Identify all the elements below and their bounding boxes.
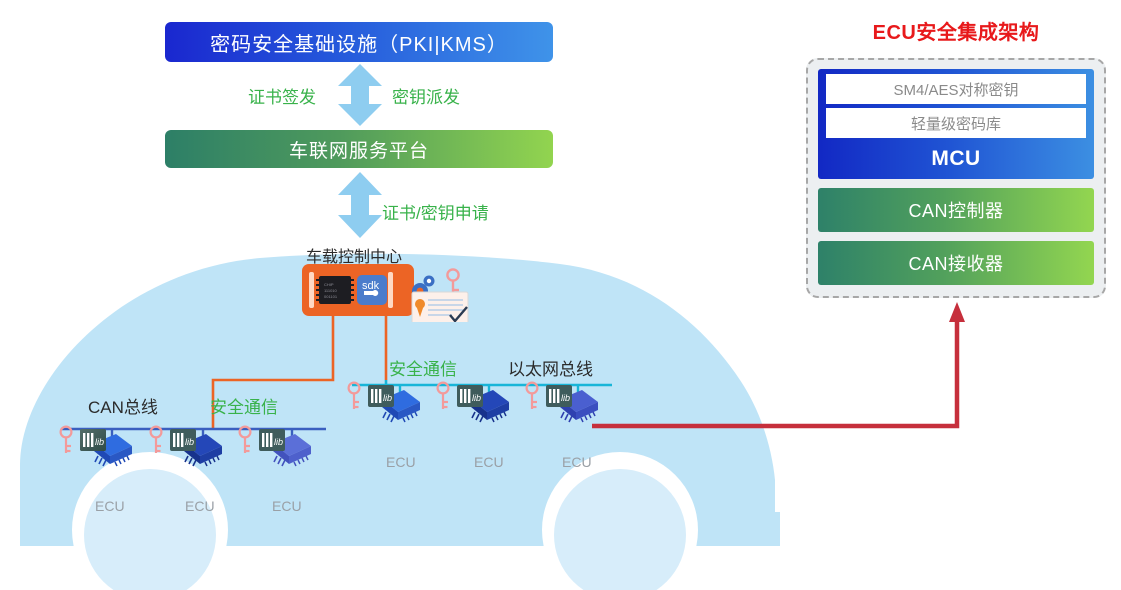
ecu-node-label: ECU — [185, 498, 215, 514]
ecu-node[interactable]: lib — [435, 380, 511, 432]
ecu-node[interactable]: lib — [237, 424, 313, 476]
pki-kms-box[interactable]: 密码安全基础设施（PKI|KMS） — [165, 22, 553, 62]
svg-text:111010: 111010 — [324, 288, 338, 293]
cert-key-request-label: 证书/密钥申请 — [382, 199, 489, 224]
ecu-node-label: ECU — [386, 454, 416, 470]
control-center-module[interactable]: CHIP111010 001101 sdk — [300, 262, 490, 322]
ecu-architecture-panel: SM4/AES对称密钥 轻量级密码库 MCU CAN控制器 CAN接收器 — [806, 58, 1106, 298]
ecu-node-label: ECU — [474, 454, 504, 470]
iov-platform-box[interactable]: 车联网服务平台 — [165, 130, 553, 168]
crypto-lib-box: 轻量级密码库 — [826, 108, 1086, 138]
svg-text:001101: 001101 — [324, 294, 338, 299]
ecu-node-label: ECU — [562, 454, 592, 470]
can-receiver-block[interactable]: CAN接收器 — [818, 241, 1094, 285]
svg-text:lib: lib — [383, 393, 392, 403]
mcu-block[interactable]: SM4/AES对称密钥 轻量级密码库 MCU — [818, 69, 1094, 179]
right-secure-comm-label: 安全通信 — [389, 355, 457, 380]
svg-text:lib: lib — [274, 437, 283, 447]
ecu-architecture-title: ECU安全集成架构 — [806, 16, 1106, 45]
key-dispatch-label: 密钥派发 — [392, 83, 460, 108]
bidirectional-arrow-mid — [330, 172, 390, 238]
ethernet-bus-label: 以太网总线 — [508, 355, 593, 380]
diagram-canvas: 密码安全基础设施（PKI|KMS） 证书签发 密钥派发 车联网服务平台 证书/密… — [0, 0, 1121, 590]
mcu-label: MCU — [826, 138, 1086, 179]
svg-text:lib: lib — [472, 393, 481, 403]
iov-platform-label: 车联网服务平台 — [289, 136, 429, 163]
can-controller-block[interactable]: CAN控制器 — [818, 188, 1094, 232]
ecu-node-label: ECU — [95, 498, 125, 514]
svg-text:sdk: sdk — [362, 280, 380, 292]
svg-text:CHIP: CHIP — [324, 282, 334, 287]
ecu-node[interactable]: lib — [346, 380, 422, 432]
can-bus-label: CAN总线 — [88, 393, 158, 418]
cert-issue-label: 证书签发 — [248, 83, 316, 108]
sym-key-box: SM4/AES对称密钥 — [826, 74, 1086, 104]
ecu-node[interactable]: lib — [148, 424, 224, 476]
ecu-node[interactable]: lib — [58, 424, 134, 476]
ecu-node-label: ECU — [272, 498, 302, 514]
svg-text:lib: lib — [561, 393, 570, 403]
svg-text:lib: lib — [95, 437, 104, 447]
left-secure-comm-label: 安全通信 — [210, 393, 278, 418]
pki-kms-label: 密码安全基础设施（PKI|KMS） — [210, 28, 508, 57]
ecu-node[interactable]: lib — [524, 380, 600, 432]
bidirectional-arrow-top — [330, 64, 390, 126]
svg-text:lib: lib — [185, 437, 194, 447]
